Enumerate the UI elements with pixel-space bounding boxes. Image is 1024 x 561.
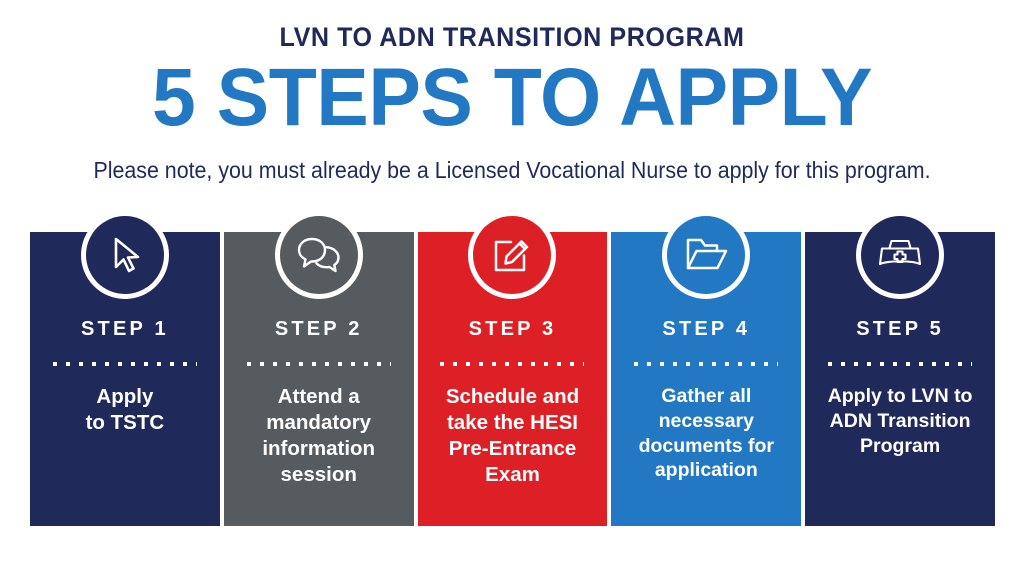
step-2-icon-disc	[280, 216, 358, 294]
step-5-description: Apply to LVN to ADN Transition Program	[813, 384, 987, 458]
step-5-divider	[828, 362, 972, 366]
step-card-4[interactable]: STEP 4 Gather all necessary documents fo…	[611, 232, 801, 526]
step-5-label: STEP 5	[805, 318, 995, 341]
step-3-panel: STEP 3 Schedule and take the HESI Pre-En…	[418, 232, 608, 526]
step-card-3[interactable]: STEP 3 Schedule and take the HESI Pre-En…	[418, 232, 608, 526]
step-1-panel: STEP 1 Apply to TSTC	[30, 232, 220, 526]
step-3-icon-ring	[468, 211, 556, 299]
step-card-5[interactable]: STEP 5 Apply to LVN to ADN Transition Pr…	[805, 232, 995, 526]
step-4-description: Gather all necessary documents for appli…	[619, 384, 793, 483]
open-folder-icon	[683, 235, 729, 275]
step-5-icon-ring	[856, 211, 944, 299]
step-4-icon-ring	[662, 211, 750, 299]
page-title: 5 STEPS TO APPLY	[20, 59, 1003, 137]
header: LVN TO ADN TRANSITION PROGRAM 5 STEPS TO…	[0, 0, 1024, 184]
eyebrow-title: LVN TO ADN TRANSITION PROGRAM	[36, 22, 988, 53]
infographic-canvas: LVN TO ADN TRANSITION PROGRAM 5 STEPS TO…	[0, 0, 1024, 561]
step-3-divider	[440, 362, 584, 366]
step-1-label: STEP 1	[30, 318, 220, 341]
step-5-panel: STEP 5 Apply to LVN to ADN Transition Pr…	[805, 232, 995, 526]
cursor-arrow-icon	[103, 233, 147, 277]
step-4-panel: STEP 4 Gather all necessary documents fo…	[611, 232, 801, 526]
step-2-panel: STEP 2 Attend a mandatory information se…	[224, 232, 414, 526]
nurse-cap-icon	[876, 237, 924, 273]
step-2-divider	[247, 362, 391, 366]
subtitle-note: Please note, you must already be a Licen…	[36, 157, 988, 184]
pencil-edit-icon	[490, 233, 534, 277]
step-2-description: Attend a mandatory information session	[232, 384, 406, 488]
step-3-label: STEP 3	[418, 318, 608, 341]
step-card-1[interactable]: STEP 1 Apply to TSTC	[30, 232, 220, 526]
step-4-label: STEP 4	[611, 318, 801, 341]
step-3-icon-disc	[473, 216, 551, 294]
step-card-2[interactable]: STEP 2 Attend a mandatory information se…	[224, 232, 414, 526]
steps-row: STEP 1 Apply to TSTC	[30, 232, 995, 526]
step-5-icon-disc	[861, 216, 939, 294]
step-1-icon-ring	[81, 211, 169, 299]
step-4-icon-disc	[667, 216, 745, 294]
step-2-label: STEP 2	[224, 318, 414, 341]
step-4-divider	[634, 362, 778, 366]
step-1-description: Apply to TSTC	[38, 384, 212, 436]
step-3-description: Schedule and take the HESI Pre-Entrance …	[426, 384, 600, 488]
speech-bubbles-icon	[296, 235, 342, 275]
step-1-icon-disc	[86, 216, 164, 294]
step-1-divider	[53, 362, 197, 366]
step-2-icon-ring	[275, 211, 363, 299]
